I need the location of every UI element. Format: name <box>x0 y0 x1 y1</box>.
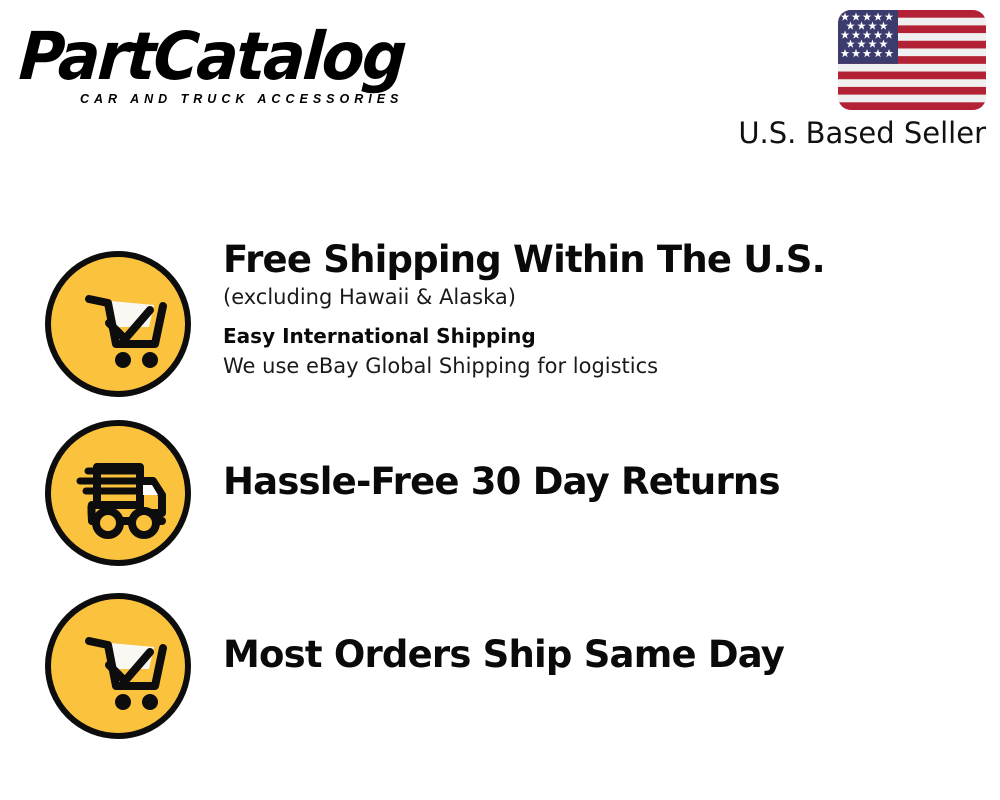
feature-row: Hassle-Free 30 Day Returns <box>0 413 1000 585</box>
feature-row: Free Shipping Within The U.S. (excluding… <box>0 230 1000 413</box>
spacer <box>223 312 825 321</box>
feature-row: Most Orders Ship Same Day <box>0 585 1000 757</box>
shopping-cart-check-icon <box>42 248 194 400</box>
shopping-cart-check-icon <box>42 590 194 742</box>
feature-text-block: Hassle-Free 30 Day Returns <box>223 413 800 504</box>
brand-logo[interactable]: PartCatalog CAR AND TRUCK ACCESSORIES <box>22 18 492 118</box>
feature-text-block: Free Shipping Within The U.S. (excluding… <box>223 230 845 381</box>
feature-subtitle: (excluding Hawaii & Alaska) <box>223 282 825 312</box>
us-based-seller-label: U.S. Based Seller <box>738 116 986 150</box>
feature-secondary-title: Easy International Shipping <box>223 321 825 351</box>
feature-title: Free Shipping Within The U.S. <box>223 237 825 282</box>
feature-title: Hassle-Free 30 Day Returns <box>223 459 780 504</box>
us-flag-icon <box>838 10 986 110</box>
delivery-truck-icon <box>42 417 194 569</box>
feature-text-block: Most Orders Ship Same Day <box>223 585 804 677</box>
brand-wordmark: PartCatalog <box>17 18 464 96</box>
feature-title: Most Orders Ship Same Day <box>223 632 784 677</box>
feature-secondary-subtitle: We use eBay Global Shipping for logistic… <box>223 351 825 381</box>
feature-list: Free Shipping Within The U.S. (excluding… <box>0 230 1000 757</box>
